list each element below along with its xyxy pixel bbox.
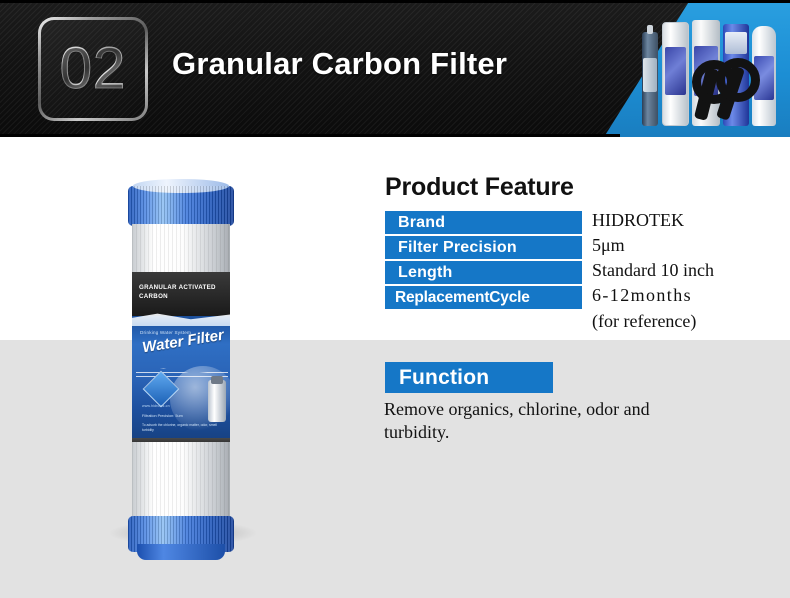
- step-number-badge: 02: [38, 17, 148, 121]
- label-description: To adsorb the chlorine, organic matter, …: [142, 423, 224, 432]
- product-cartridge-image: GRANULAR ACTIVATED CARBON Drinking Water…: [122, 186, 240, 552]
- table-row: Brand HIDROTEK: [385, 211, 780, 234]
- function-description: Remove organics, chlorine, odor and turb…: [384, 398, 684, 444]
- step-number-badge-inner: 02: [41, 20, 145, 118]
- body-pleats: [132, 224, 230, 272]
- spec-value-note: (for reference): [592, 311, 696, 332]
- cartridge-bottom-cap: [128, 516, 234, 552]
- cartridge-top-cap: [128, 186, 234, 226]
- spec-value-length: Standard 10 inch: [592, 260, 714, 281]
- label-mini-cartridge-icon: [208, 380, 226, 422]
- spec-value-brand: HIDROTEK: [592, 210, 684, 231]
- table-row: ReplacementCycle 6-12months: [385, 286, 780, 309]
- table-row: Length Standard 10 inch: [385, 261, 780, 284]
- product-feature-heading: Product Feature: [385, 173, 574, 202]
- header-top-rule: [0, 0, 790, 3]
- spec-value-filter-precision: 5μm: [592, 235, 625, 256]
- spec-value-replacement-cycle: 6-12months: [592, 285, 692, 306]
- spec-key-brand: Brand: [385, 211, 582, 234]
- spec-key-replacement-cycle: ReplacementCycle: [385, 286, 582, 309]
- product-feature-table: Brand HIDROTEK Filter Precision 5μm Leng…: [385, 211, 780, 311]
- body-pleats: [132, 442, 230, 520]
- filter-wrench-ring-icon: [716, 58, 760, 102]
- spec-key-filter-precision: Filter Precision: [385, 236, 582, 259]
- cap-ribs: [128, 516, 234, 552]
- cartridge-upper-body: [132, 224, 230, 272]
- product-spec-page: 02 Granular Carbon Filter GRANULAR ACTIV…: [0, 0, 790, 598]
- table-row: Filter Precision 5μm: [385, 236, 780, 259]
- cap-ribs: [128, 186, 234, 226]
- page-header: 02 Granular Carbon Filter: [0, 0, 790, 137]
- cartridge-lower-body: [132, 442, 230, 520]
- spec-key-length: Length: [385, 261, 582, 284]
- cartridge-label: GRANULAR ACTIVATED CARBON Drinking Water…: [132, 272, 230, 444]
- label-url: www.hidrotek.cn: [142, 404, 170, 408]
- function-heading-badge: Function: [385, 362, 553, 393]
- header-product-cluster: [640, 14, 785, 132]
- ro-membrane-icon: [642, 32, 658, 126]
- step-number-value: 02: [60, 40, 127, 98]
- label-product-name: GRANULAR ACTIVATED CARBON: [139, 283, 226, 301]
- sediment-filter-icon: [662, 22, 689, 126]
- page-title: Granular Carbon Filter: [172, 46, 507, 82]
- label-precision: Filtration Precision: 5um: [142, 414, 183, 418]
